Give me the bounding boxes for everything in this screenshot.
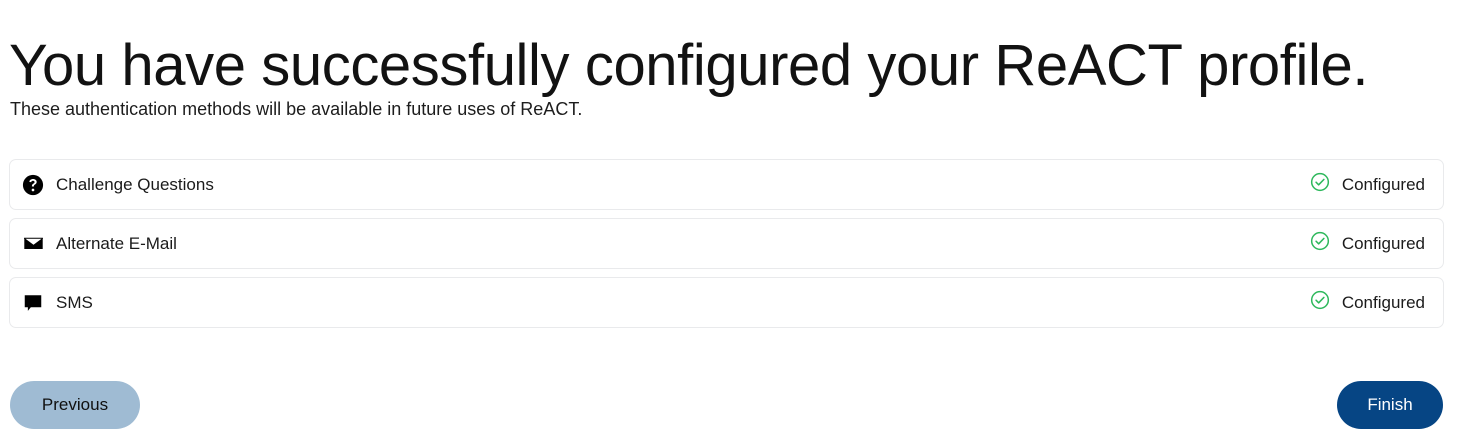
previous-button[interactable]: Previous [10,381,140,429]
method-row-challenge-questions: Challenge Questions Configured [9,159,1444,210]
method-row-alternate-email: Alternate E-Mail Configured [9,218,1444,269]
footer-buttons: Previous Finish [0,381,1463,429]
check-circle-icon [1310,172,1330,197]
envelope-icon [10,232,56,255]
method-status: Configured [1310,172,1443,197]
page-subtitle: These authentication methods will be ava… [10,98,582,120]
react-profile-confirmation-page: You have successfully configured your Re… [0,0,1463,448]
check-circle-icon [1310,231,1330,256]
status-text: Configured [1342,234,1425,254]
method-label: Alternate E-Mail [56,234,1310,254]
page-title: You have successfully configured your Re… [9,33,1368,100]
question-circle-icon [10,174,56,196]
method-status: Configured [1310,290,1443,315]
comment-icon [10,292,56,314]
check-circle-icon [1310,290,1330,315]
method-row-sms: SMS Configured [9,277,1444,328]
status-text: Configured [1342,293,1425,313]
method-label: Challenge Questions [56,175,1310,195]
authentication-methods-list: Challenge Questions Configured [9,159,1444,328]
status-text: Configured [1342,175,1425,195]
method-status: Configured [1310,231,1443,256]
finish-button[interactable]: Finish [1337,381,1443,429]
method-label: SMS [56,293,1310,313]
